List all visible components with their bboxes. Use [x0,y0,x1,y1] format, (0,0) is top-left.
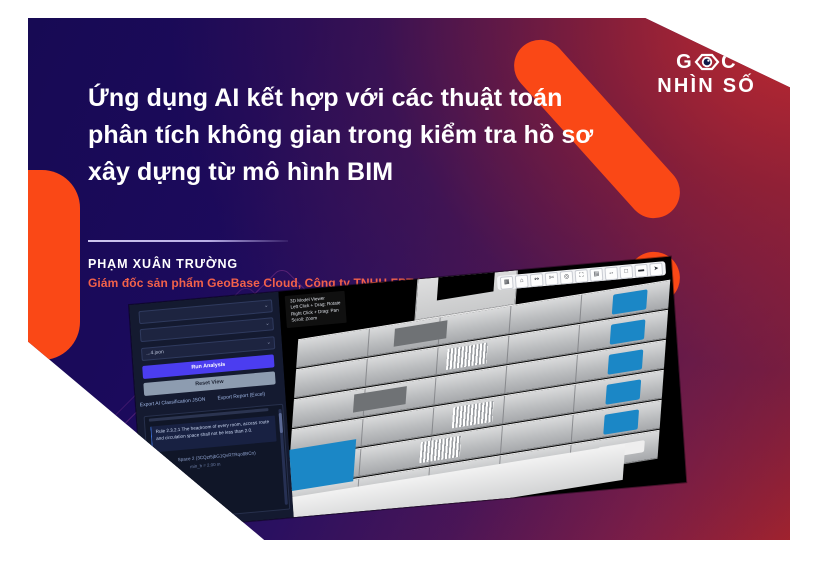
logo-line-1: G C [657,52,756,72]
export-excel-link[interactable]: Export Report (Excel) [217,391,265,401]
title-divider [88,240,288,242]
measure-icon[interactable]: ↔ [604,266,618,280]
layers-icon[interactable]: ▤ [589,267,603,281]
camera-icon[interactable]: ◎ [560,270,574,284]
embedded-app-screenshot: ⌄ ⌄ ...4.json ⌄ Run Analysis Reset View … [129,257,686,531]
ruler-icon[interactable]: ▬ [634,263,648,277]
box-icon[interactable]: □ [619,265,633,279]
list-item[interactable]: Rule 2.3.2.1 The headroom of every room,… [150,415,276,452]
slide-card: G C NHÌN SỐ Ứng dụng AI kết hợp với các … [28,18,790,540]
headline-line-2: phân tích không gian trong kiểm tra hồ s… [88,117,648,154]
export-json-link[interactable]: Export AI Classification JSON [140,397,206,409]
logo-line-2: NHÌN SỐ [657,75,756,97]
brand-logo: G C NHÌN SỐ [657,52,756,97]
fit-icon[interactable]: ⛶ [575,269,589,283]
select-json-file-value: ...4.json [146,348,164,359]
chevron-down-icon: ⌄ [264,302,269,311]
result-min-height: min_h = 2.00 m [190,461,221,471]
viewer-hint-overlay: 3D Model Viewer Left Click + Drag: Rotat… [285,291,347,328]
slide-root: G C NHÌN SỐ Ứng dụng AI kết hợp với các … [0,0,820,571]
headline-line-3: xây dựng từ mô hình BIM [88,154,648,191]
grid-icon[interactable]: ▦ [500,275,514,289]
page-title: Ứng dụng AI kết hợp với các thuật toán p… [88,80,648,191]
logo-letter-g: G [676,52,693,72]
results-list[interactable]: Rule 2.3.2.1 The headroom of every room,… [144,404,291,522]
home-icon[interactable]: ⌂ [515,274,529,288]
headline-line-1: Ứng dụng AI kết hợp với các thuật toán [88,80,648,117]
orbit-icon[interactable]: ↭ [530,273,544,287]
decorative-orange-tab [28,170,80,360]
chevron-down-icon: ⌄ [265,320,270,329]
cursor-icon[interactable]: ➤ [649,262,663,276]
logo-letter-c: C [721,52,737,72]
rule-text: Rule 2.3.2.1 The headroom of every room,… [155,418,272,442]
eye-icon [694,52,720,72]
section-icon[interactable]: ✄ [545,271,559,285]
chevron-down-icon: ⌄ [266,339,271,348]
speaker-name: PHẠM XUÂN TRƯỜNG [88,256,429,273]
model-viewer[interactable]: 3D Model Viewer Left Click + Drag: Rotat… [278,257,686,518]
control-panel: ⌄ ⌄ ...4.json ⌄ Run Analysis Reset View … [129,292,294,531]
